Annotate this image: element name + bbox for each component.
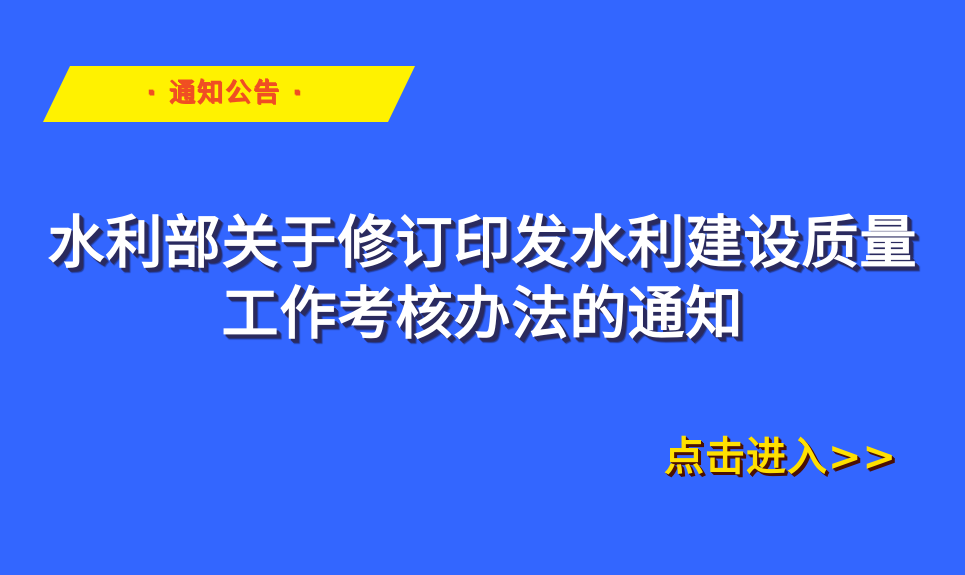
notice-poster: · 通知公告 · 水利部关于修订印发水利建设质量 工作考核办法的通知 点击进入>… xyxy=(0,0,965,575)
notice-ribbon-banner: · 通知公告 · xyxy=(43,66,415,122)
enter-link[interactable]: 点击进入>> xyxy=(664,434,897,480)
page-title-line-2: 工作考核办法的通知 xyxy=(0,279,965,350)
page-title-line-1: 水利部关于修订印发水利建设质量 xyxy=(0,208,965,279)
call-to-action: 点击进入>> xyxy=(0,434,965,480)
ribbon-label: · 通知公告 · xyxy=(146,80,304,106)
page-title: 水利部关于修订印发水利建设质量 工作考核办法的通知 xyxy=(0,208,965,350)
